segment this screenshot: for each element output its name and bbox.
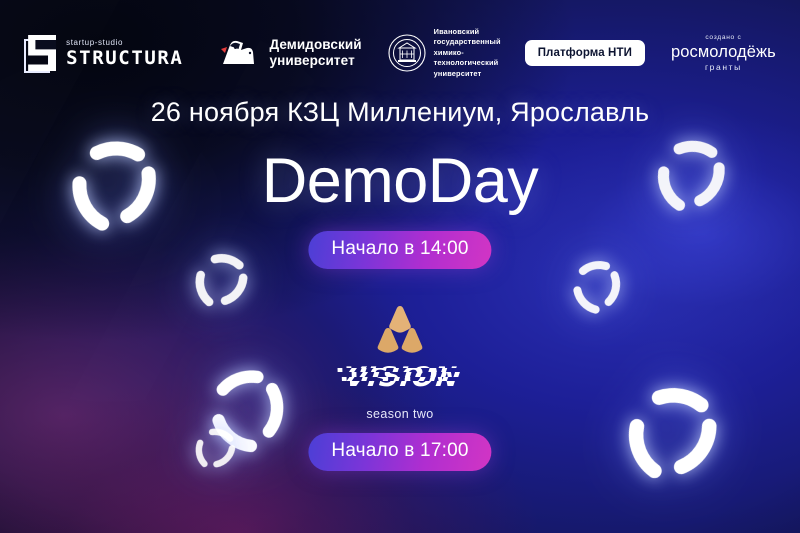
logo-rosmolodezh: создано с росмолодёжь гранты bbox=[671, 35, 776, 72]
igcu-label: Ивановский государственный химико-технол… bbox=[434, 27, 501, 80]
igcu-seal-icon bbox=[388, 34, 426, 72]
vision-awards-glitch-slice: VISION AWARDS bbox=[271, 387, 529, 395]
rosmolodezh-name: росмолодёжь bbox=[671, 44, 776, 61]
logo-demidov-university: Демидовский университет bbox=[217, 34, 361, 72]
vision-awards-block: VISION AWARDSVISION AWARDSVISION AWARDSV… bbox=[0, 305, 800, 421]
igcu-line-3: университет bbox=[434, 69, 501, 80]
structura-name: STRUCTURA bbox=[66, 49, 183, 68]
page-title: DemoDay bbox=[0, 145, 800, 217]
logo-structura: startup-studio STRUCTURA bbox=[24, 34, 183, 72]
event-date-venue: 26 ноября КЗЦ Миллениум, Ярославль bbox=[0, 97, 800, 128]
demidov-line-2: университет bbox=[269, 53, 361, 69]
start-time-badge-demoday: Начало в 14:00 bbox=[308, 231, 491, 269]
event-poster: startup-studio STRUCTURA Демидовский уни… bbox=[0, 0, 800, 533]
rosmolodezh-sub: гранты bbox=[671, 63, 776, 72]
structura-tagline: startup-studio bbox=[66, 39, 183, 47]
partner-logos-row: startup-studio STRUCTURA Демидовский уни… bbox=[0, 22, 800, 84]
nti-platform-label: Платформа НТИ bbox=[525, 40, 645, 66]
demidov-label: Демидовский университет bbox=[269, 37, 361, 69]
demidov-crest-icon bbox=[217, 34, 261, 72]
start-time-badge-vision-awards: Начало в 17:00 bbox=[308, 433, 491, 471]
vision-awards-emblem-icon bbox=[371, 305, 429, 355]
igcu-line-2: химико-технологический bbox=[434, 48, 501, 69]
structura-s-mark-icon bbox=[24, 34, 58, 72]
vision-awards-wordmark: VISION AWARDSVISION AWARDSVISION AWARDSV… bbox=[271, 361, 529, 395]
rosmolodezh-prefix: создано с bbox=[671, 35, 776, 42]
vision-awards-glitch-slice: VISION AWARDS bbox=[271, 361, 529, 368]
demidov-line-1: Демидовский bbox=[269, 37, 361, 53]
vision-awards-subtitle: season two bbox=[0, 407, 800, 421]
logo-nti-platform: Платформа НТИ bbox=[525, 40, 645, 66]
igcu-line-1: Ивановский государственный bbox=[434, 27, 501, 48]
logo-ivanovo-university: Ивановский государственный химико-технол… bbox=[388, 27, 501, 80]
